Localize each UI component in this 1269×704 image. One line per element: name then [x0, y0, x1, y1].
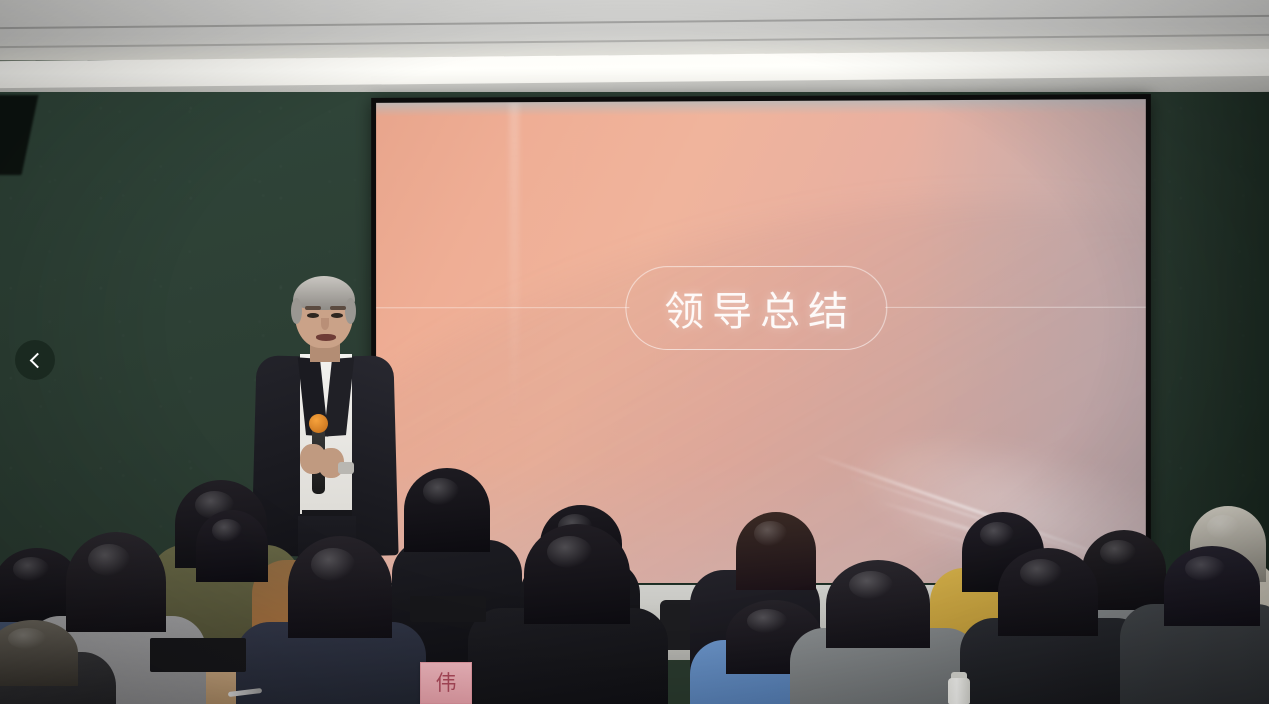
attendee-head — [1164, 546, 1260, 626]
speaker-watch — [338, 462, 354, 474]
water-bottle — [948, 678, 970, 704]
attendee-head — [66, 532, 166, 632]
screen-glare-streak — [509, 102, 519, 430]
speaker-brow — [330, 306, 346, 310]
speaker-eye — [331, 313, 343, 318]
slide-title: 领导总结 — [656, 279, 856, 337]
prev-image-button[interactable] — [15, 340, 55, 380]
attendee-head — [998, 548, 1098, 636]
speaker — [250, 272, 400, 572]
microphone-head — [309, 414, 328, 433]
laptop — [150, 638, 246, 672]
slide-hairline-right — [885, 307, 1146, 308]
attendee-head — [826, 560, 930, 648]
attendee-head — [404, 468, 490, 552]
speaker-nose — [321, 318, 329, 330]
attendee-head — [0, 620, 78, 686]
name-placard: 伟 — [420, 662, 472, 704]
speaker-hair-side — [345, 298, 356, 324]
speaker-hair-side — [291, 298, 302, 324]
slide-hairline-left — [376, 307, 629, 308]
slide-title-pill: 领导总结 — [625, 266, 887, 350]
name-placard-text: 伟 — [436, 673, 457, 694]
speaker-brow — [305, 306, 321, 310]
laptop — [410, 596, 486, 622]
speaker-mouth — [316, 334, 336, 341]
photo-viewer: 领导总结 — [0, 0, 1269, 704]
attendee-head — [196, 510, 268, 582]
attendee-head — [524, 524, 630, 624]
chevron-left-icon — [29, 352, 45, 368]
attendee-head — [736, 512, 816, 590]
attendee-head — [288, 536, 392, 638]
speaker-eye — [307, 313, 319, 318]
